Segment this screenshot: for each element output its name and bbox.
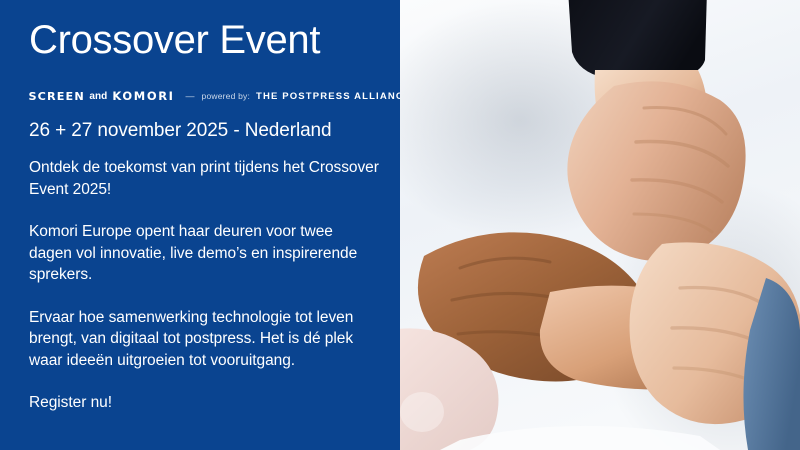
paragraph-experience: Ervaar hoe samenwerking technologie tot …: [29, 307, 379, 372]
body-copy: Ontdek de toekomst van print tijdens het…: [29, 157, 379, 414]
powered-by-label: powered by:: [202, 91, 251, 101]
hands-illustration: [400, 0, 800, 450]
logo-conjunction: and: [89, 91, 107, 102]
brand-logo-strip: SCREEN and KOMORI — powered by: THE POST…: [29, 89, 400, 103]
teamwork-hands-photo: [400, 0, 800, 450]
register-call-to-action[interactable]: Register nu!: [29, 392, 379, 414]
screen-logo: SCREEN: [28, 90, 84, 103]
logo-separator-dash: —: [186, 91, 195, 101]
cuff-button: [400, 392, 444, 432]
left-blue-panel: Crossover Event SCREEN and KOMORI — powe…: [0, 0, 400, 450]
page-title: Crossover Event: [29, 18, 320, 62]
paragraph-details: Komori Europe opent haar deuren voor twe…: [29, 221, 379, 286]
postpress-alliance-logo: THE POSTPRESS ALLIANCE: [256, 91, 400, 102]
event-date-location: 26 + 27 november 2025 - Nederland: [29, 119, 332, 143]
komori-logo: KOMORI: [112, 89, 174, 103]
paragraph-intro: Ontdek de toekomst van print tijdens het…: [29, 157, 379, 200]
dark-sleeve: [568, 0, 707, 80]
event-banner: Crossover Event SCREEN and KOMORI — powe…: [0, 0, 800, 450]
